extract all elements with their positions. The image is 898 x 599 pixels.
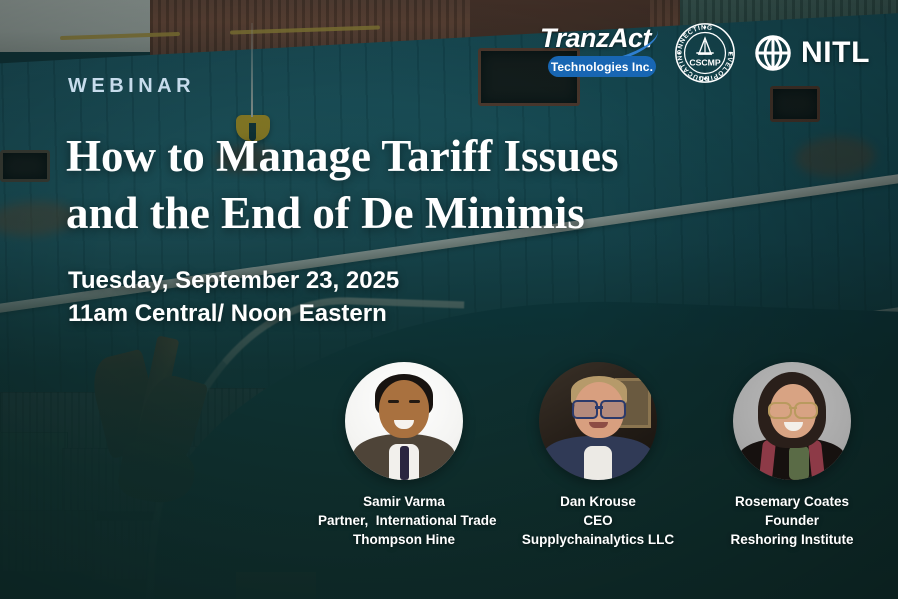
- speaker-name: Samir Varma: [318, 492, 490, 511]
- speaker-role: CEO: [512, 511, 684, 530]
- event-schedule: Tuesday, September 23, 2025 11am Central…: [68, 264, 399, 330]
- nitl-globe-icon: [754, 34, 792, 72]
- eyebrow-label: WEBINAR: [68, 75, 195, 98]
- svg-text:CSCMP: CSCMP: [689, 57, 721, 67]
- sponsor-logo-row: TranzAct Technologies Inc. CONNECTING: [538, 22, 870, 84]
- speaker-card: Samir Varma Partner, International Trade…: [318, 362, 490, 549]
- speaker-avatar: [345, 362, 463, 480]
- nitl-wordmark: NITL: [801, 36, 870, 70]
- speaker-org: Reshoring Institute: [706, 530, 878, 549]
- speaker-card: Rosemary Coates Founder Reshoring Instit…: [706, 362, 878, 549]
- speaker-role: Partner, International Trade: [318, 511, 490, 530]
- speaker-name: Rosemary Coates: [706, 492, 878, 511]
- speaker-card: Dan Krouse CEO Supplychainalytics LLC: [512, 362, 684, 549]
- speaker-list: Samir Varma Partner, International Trade…: [318, 362, 878, 549]
- nitl-logo: NITL: [754, 34, 870, 72]
- speaker-avatar: [733, 362, 851, 480]
- tranzact-logo: TranzAct Technologies Inc.: [538, 23, 656, 83]
- tranzact-tagline: Technologies Inc.: [551, 60, 653, 74]
- tranzact-tagline-pill: Technologies Inc.: [548, 56, 656, 77]
- headline-line-2: and the End of De Minimis: [66, 185, 726, 242]
- event-time: 11am Central/ Noon Eastern: [68, 297, 399, 330]
- cscmp-logo: CONNECTING DEVELOPING EDUCATING CS: [674, 22, 736, 84]
- webinar-promo-poster: NOVA WEBINAR How to Manage Tariff Issues…: [0, 0, 898, 599]
- cscmp-seal-icon: CONNECTING DEVELOPING EDUCATING CS: [674, 22, 736, 84]
- event-date: Tuesday, September 23, 2025: [68, 264, 399, 297]
- speaker-name: Dan Krouse: [512, 492, 684, 511]
- speaker-org: Supplychainalytics LLC: [512, 530, 684, 549]
- speaker-org: Thompson Hine: [318, 530, 490, 549]
- page-title: How to Manage Tariff Issues and the End …: [66, 128, 726, 241]
- speaker-avatar: [539, 362, 657, 480]
- headline-line-1: How to Manage Tariff Issues: [66, 131, 619, 181]
- speaker-role: Founder: [706, 511, 878, 530]
